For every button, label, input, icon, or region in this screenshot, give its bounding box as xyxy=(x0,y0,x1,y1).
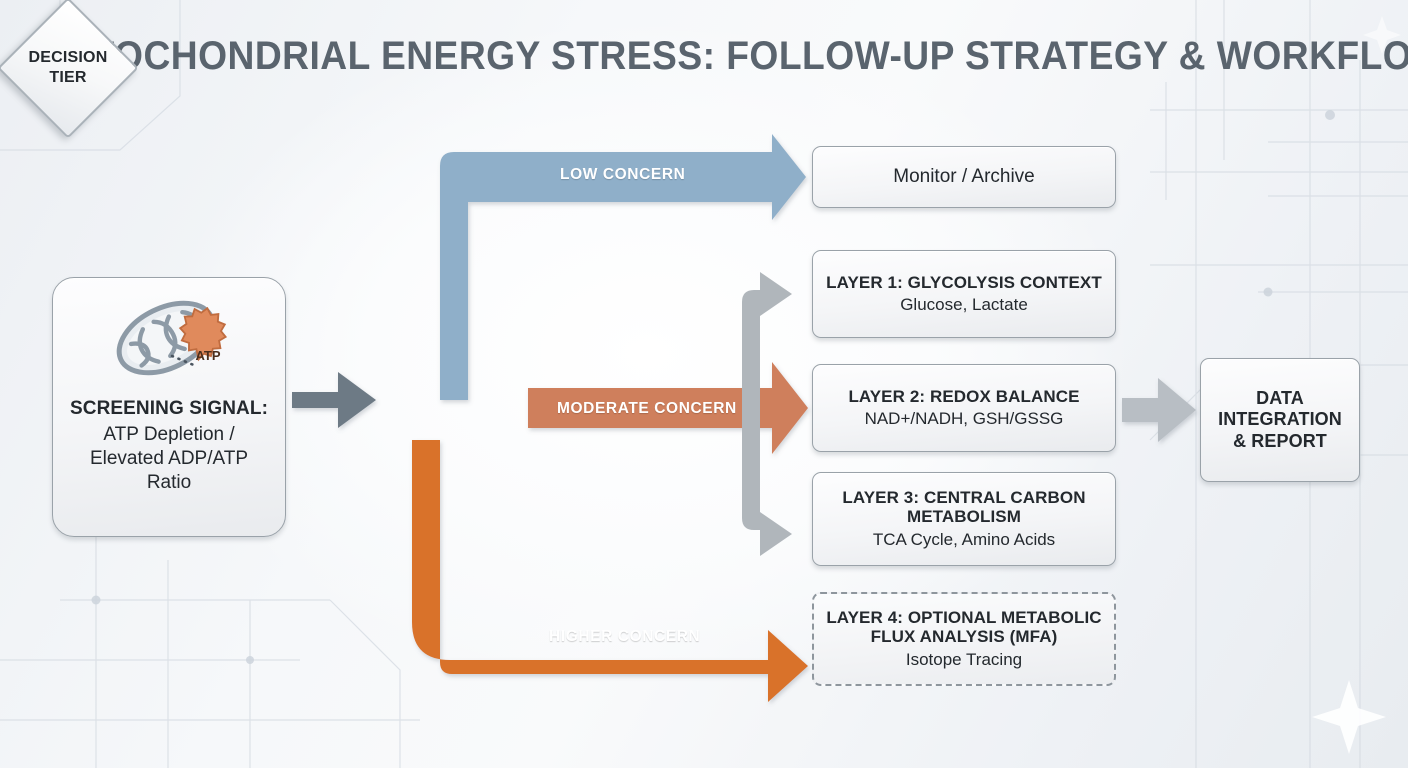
node-monitor-archive[interactable]: Monitor / Archive xyxy=(812,146,1116,208)
screening-line-3: Ratio xyxy=(147,471,191,495)
layer3-header-line-1: LAYER 3: CENTRAL CARBON xyxy=(842,488,1085,507)
svg-text:ATP: ATP xyxy=(195,348,220,363)
screening-line-2: Elevated ADP/ATP xyxy=(90,447,248,471)
screening-header: SCREENING SIGNAL: xyxy=(70,398,268,420)
report-line-1: DATA xyxy=(1256,388,1304,410)
layer3-header-line-2: METABOLISM xyxy=(907,507,1021,526)
node-layer-4-optional[interactable]: LAYER 4: OPTIONAL METABOLIC FLUX ANALYSI… xyxy=(812,592,1116,686)
layer2-header: LAYER 2: REDOX BALANCE xyxy=(848,387,1079,406)
node-layer-2[interactable]: LAYER 2: REDOX BALANCE NAD+/NADH, GSH/GS… xyxy=(812,364,1116,452)
layer3-detail: TCA Cycle, Amino Acids xyxy=(873,530,1055,550)
layer1-header: LAYER 1: GLYCOLYSIS CONTEXT xyxy=(826,273,1102,292)
node-screening-signal[interactable]: ATP SCREENING SIGNAL: ATP Depletion / El… xyxy=(52,277,286,537)
label-low-concern: LOW CONCERN xyxy=(560,166,685,184)
layer2-detail: NAD+/NADH, GSH/GSSG xyxy=(865,409,1064,429)
label-moderate-concern: MODERATE CONCERN xyxy=(557,400,737,418)
diagram-canvas: MITOCHONDRIAL ENERGY STRESS: FOLLOW-UP S… xyxy=(0,0,1408,768)
layer4-detail: Isotope Tracing xyxy=(906,650,1022,670)
screening-line-1: ATP Depletion / xyxy=(103,423,234,447)
monitor-title: Monitor / Archive xyxy=(893,166,1035,189)
decision-label: DECISION TIER xyxy=(0,0,136,136)
decision-line-1: DECISION xyxy=(29,48,108,68)
decision-line-2: TIER xyxy=(49,68,86,88)
report-line-3: & REPORT xyxy=(1233,431,1327,453)
layer1-detail: Glucose, Lactate xyxy=(900,295,1028,315)
node-layer-3[interactable]: LAYER 3: CENTRAL CARBON METABOLISM TCA C… xyxy=(812,472,1116,566)
node-data-integration-report[interactable]: DATA INTEGRATION & REPORT xyxy=(1200,358,1360,482)
layer4-header-line-2: FLUX ANALYSIS (MFA) xyxy=(871,627,1058,646)
arrow-layer2-to-report xyxy=(1122,378,1196,442)
arrow-screening-to-decision xyxy=(292,372,376,428)
report-line-2: INTEGRATION xyxy=(1218,409,1342,431)
layer4-header-line-1: LAYER 4: OPTIONAL METABOLIC xyxy=(826,608,1101,627)
mitochondrion-icon: ATP xyxy=(104,290,234,394)
node-decision-tier[interactable]: DECISION TIER xyxy=(0,0,136,136)
label-higher-concern: HIGHER CONCERN xyxy=(549,628,700,646)
node-layer-1[interactable]: LAYER 1: GLYCOLYSIS CONTEXT Glucose, Lac… xyxy=(812,250,1116,338)
page-title: MITOCHONDRIAL ENERGY STRESS: FOLLOW-UP S… xyxy=(49,34,1358,79)
